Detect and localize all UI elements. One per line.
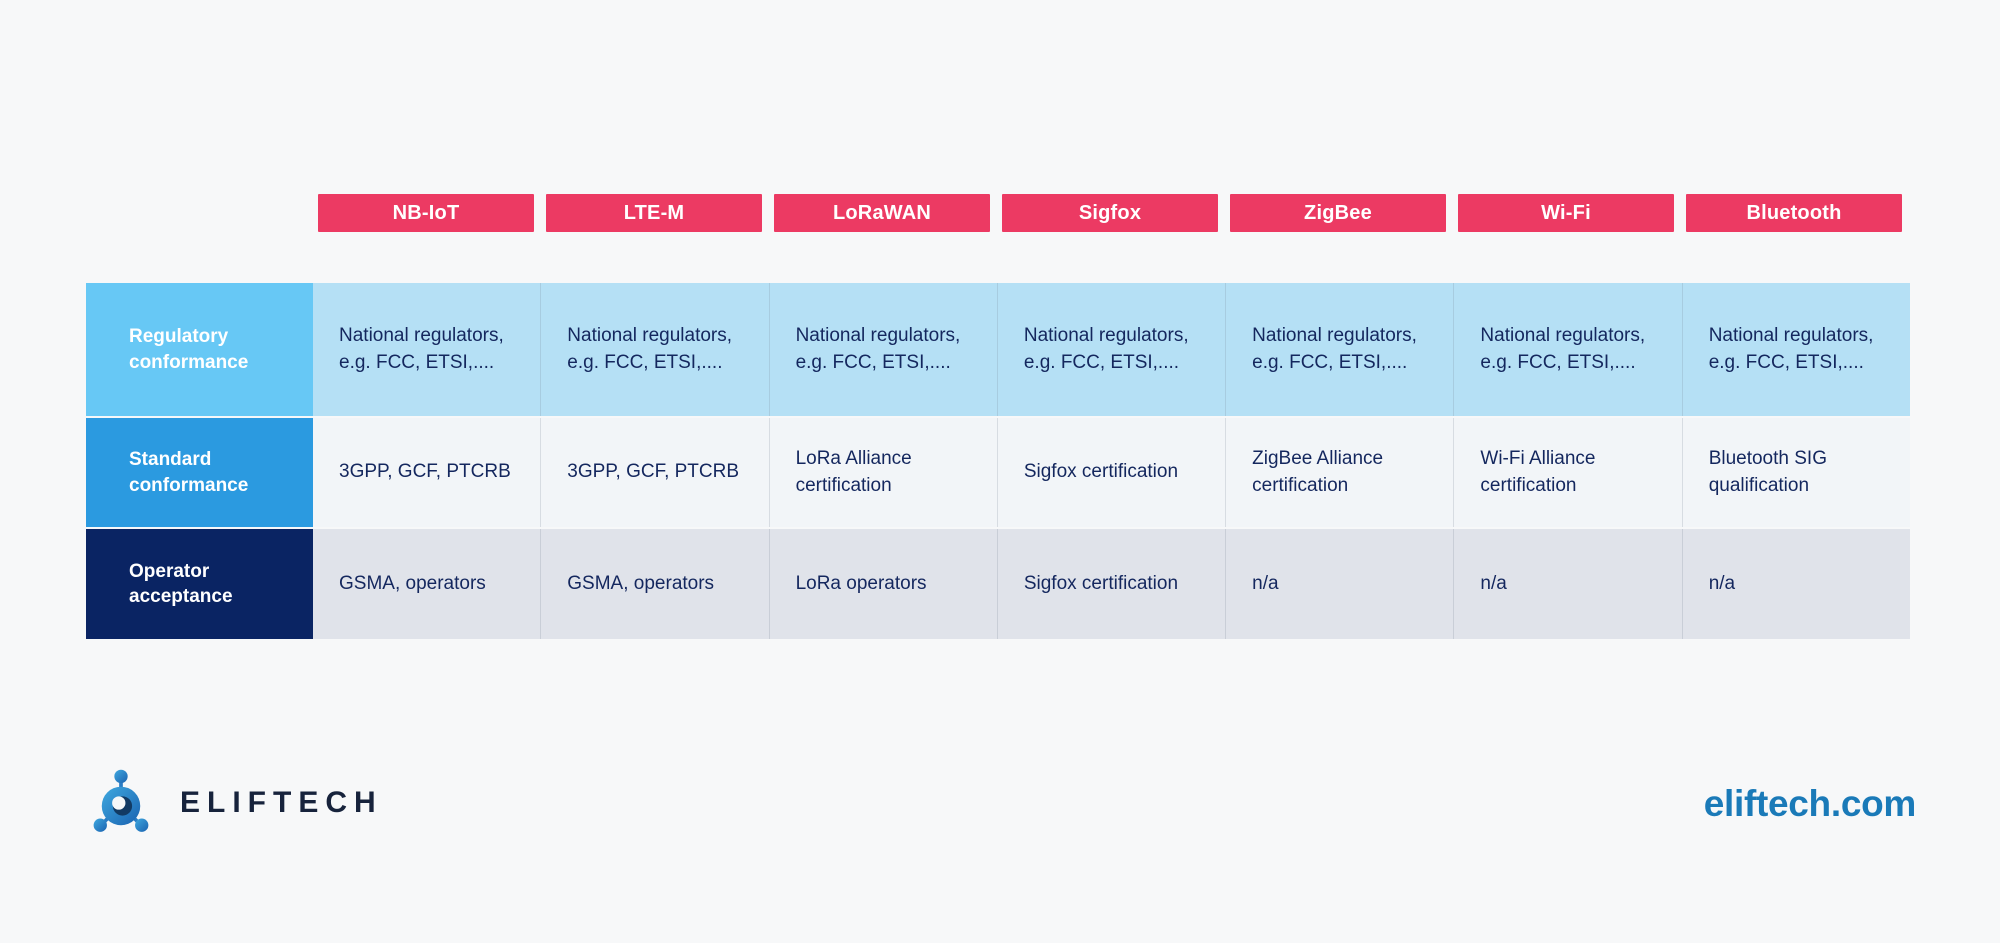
row-header-label: Regulatory conformance	[129, 324, 313, 374]
column-header-bluetooth: Bluetooth	[1686, 194, 1902, 232]
column-header-zigbee: ZigBee	[1230, 194, 1446, 232]
cell-standard-wi-fi: Wi-Fi Alliance certification	[1454, 418, 1682, 527]
table-row-operator-acceptance: Operator acceptance GSMA, operators GSMA…	[86, 529, 1910, 639]
cell-standard-lorawan: LoRa Alliance certification	[770, 418, 998, 527]
row-cells: National regulators, e.g. FCC, ETSI,....…	[313, 283, 1910, 416]
brand-wordmark: ELIFTECH	[180, 786, 383, 820]
cell-operator-lte-m: GSMA, operators	[541, 529, 769, 639]
row-header-label: Standard conformance	[129, 447, 313, 497]
row-cells: GSMA, operators GSMA, operators LoRa ope…	[313, 529, 1910, 639]
cell-operator-lorawan: LoRa operators	[770, 529, 998, 639]
cell-standard-sigfox: Sigfox certification	[998, 418, 1226, 527]
cell-operator-bluetooth: n/a	[1683, 529, 1910, 639]
cell-standard-bluetooth: Bluetooth SIG qualification	[1683, 418, 1910, 527]
cell-operator-wi-fi: n/a	[1454, 529, 1682, 639]
cell-standard-nb-iot: 3GPP, GCF, PTCRB	[313, 418, 541, 527]
cell-regulatory-zigbee: National regulators, e.g. FCC, ETSI,....	[1226, 283, 1454, 416]
comparison-table: Regulatory conformance National regulato…	[86, 283, 1910, 639]
column-header-wi-fi: Wi-Fi	[1458, 194, 1674, 232]
column-header-label: LTE-M	[624, 202, 685, 225]
cell-operator-nb-iot: GSMA, operators	[313, 529, 541, 639]
cell-standard-zigbee: ZigBee Alliance certification	[1226, 418, 1454, 527]
row-header-label: Operator acceptance	[129, 559, 313, 609]
column-header-lorawan: LoRaWAN	[774, 194, 990, 232]
cell-regulatory-lorawan: National regulators, e.g. FCC, ETSI,....	[770, 283, 998, 416]
row-header-standard-conformance: Standard conformance	[86, 418, 313, 527]
column-header-label: Sigfox	[1079, 202, 1141, 225]
brand-lockup: ELIFTECH	[84, 766, 383, 840]
column-header-sigfox: Sigfox	[1002, 194, 1218, 232]
column-header-nb-iot: NB-IoT	[318, 194, 534, 232]
table-row-standard-conformance: Standard conformance 3GPP, GCF, PTCRB 3G…	[86, 418, 1910, 527]
cell-operator-sigfox: Sigfox certification	[998, 529, 1226, 639]
cell-operator-zigbee: n/a	[1226, 529, 1454, 639]
cell-regulatory-lte-m: National regulators, e.g. FCC, ETSI,....	[541, 283, 769, 416]
column-header-label: Wi-Fi	[1541, 202, 1591, 225]
row-cells: 3GPP, GCF, PTCRB 3GPP, GCF, PTCRB LoRa A…	[313, 418, 1910, 527]
site-url-label: eliftech.com	[1704, 783, 1916, 825]
table-column-header-row: NB-IoT LTE-M LoRaWAN Sigfox ZigBee Wi-Fi…	[318, 194, 1902, 232]
comparison-table-infographic: NB-IoT LTE-M LoRaWAN Sigfox ZigBee Wi-Fi…	[0, 0, 2000, 943]
cell-regulatory-wi-fi: National regulators, e.g. FCC, ETSI,....	[1454, 283, 1682, 416]
table-row-regulatory-conformance: Regulatory conformance National regulato…	[86, 283, 1910, 416]
eliftech-molecule-logo-icon	[84, 766, 158, 840]
column-header-label: ZigBee	[1304, 202, 1372, 225]
column-header-lte-m: LTE-M	[546, 194, 762, 232]
footer: ELIFTECH eliftech.com	[0, 758, 2000, 888]
column-header-label: LoRaWAN	[833, 202, 931, 225]
row-header-operator-acceptance: Operator acceptance	[86, 529, 313, 639]
row-header-regulatory-conformance: Regulatory conformance	[86, 283, 313, 416]
column-header-label: NB-IoT	[393, 202, 460, 225]
cell-standard-lte-m: 3GPP, GCF, PTCRB	[541, 418, 769, 527]
cell-regulatory-sigfox: National regulators, e.g. FCC, ETSI,....	[998, 283, 1226, 416]
column-header-label: Bluetooth	[1746, 202, 1841, 225]
cell-regulatory-bluetooth: National regulators, e.g. FCC, ETSI,....	[1683, 283, 1910, 416]
cell-regulatory-nb-iot: National regulators, e.g. FCC, ETSI,....	[313, 283, 541, 416]
